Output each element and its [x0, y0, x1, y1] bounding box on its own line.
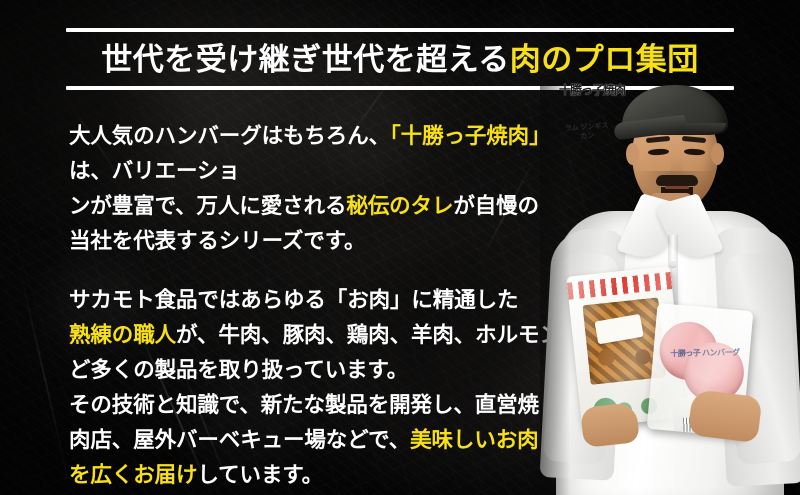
text-run: その技術と知識で、新たな製品を開発し、直営焼 [69, 393, 539, 417]
text-run: サカモト食品ではあらゆる「お肉」に精通した [69, 288, 518, 312]
text-run: しています。 [197, 463, 323, 487]
shirt-button [670, 261, 676, 267]
text-run: が自慢の [453, 194, 539, 218]
package-label-text-lamb: ラム ジンギスカン [563, 121, 610, 142]
text-run-highlight: 秘伝のタレ [346, 194, 453, 218]
paragraph-2-line-4: その技術と知識で、新たな製品を開発し、直営焼 [69, 388, 589, 423]
person-ear-right [711, 143, 724, 165]
text-run: 当社を代表するシリーズです。 [69, 229, 365, 253]
person-hand-right [687, 389, 762, 443]
text-run: ど多くの製品を取り扱っています。 [69, 358, 408, 382]
package-title-hamburg: 十勝っ子 ハンバーグ [670, 347, 741, 382]
paragraph-2-line-5: 肉店、屋外バーベキュー場などで、美味しいお肉 [69, 423, 589, 458]
person-moustache [656, 175, 698, 186]
person-nose [671, 157, 683, 175]
text-run: 肉店、屋外バーベキュー場などで、 [69, 428, 410, 452]
staff-photo: 十勝っ子焼肉 ラム ジンギスカン 十勝っ子 ハンバーグ [540, 75, 800, 495]
package-stripe-band [567, 272, 672, 300]
text-run: が、牛肉、豚肉、鶏肉、羊肉、ホルモンな [176, 323, 582, 347]
text-run-highlight: 「十勝っ子焼肉」 [390, 124, 550, 148]
promo-banner: 世代を受け継ぎ世代を超える肉のプロ集団 大人気のハンバーグはもちろん、「十勝っ子… [0, 0, 800, 495]
paragraph-1-line-3: 当社を代表するシリーズです。 [69, 224, 589, 259]
paragraph-2-line-3: ど多くの製品を取り扱っています。 [69, 353, 589, 388]
paragraph-2-line-1: サカモト食品ではあらゆる「お肉」に精通した [69, 283, 589, 318]
paragraph-1-line-1: 大人気のハンバーグはもちろん、「十勝っ子焼肉」は、バリエーショ [69, 119, 589, 189]
text-run: ンが豊富で、万人に愛される [69, 194, 346, 218]
text-run-highlight: 美味しいお肉 [410, 428, 538, 452]
text-run: は、バリエーショ [69, 159, 240, 183]
text-run-highlight: を広くお届け [69, 463, 197, 487]
text-run: 大人気のハンバーグはもちろん、 [69, 124, 390, 148]
paragraph-spacer [69, 259, 589, 283]
headline-text-plain: 世代を受け継ぎ世代を超える [101, 42, 510, 77]
person-ear-left [626, 143, 639, 165]
headline-text-highlight: 肉のプロ集団 [510, 42, 699, 77]
photo-edge-blend [540, 75, 570, 495]
body-copy: 大人気のハンバーグはもちろん、「十勝っ子焼肉」は、バリエーショ ンが豊富で、万人… [69, 119, 589, 493]
person-mouth [665, 186, 689, 189]
text-run-highlight: 熟練の職人 [69, 323, 176, 347]
paragraph-2-line-2: 熟練の職人が、牛肉、豚肉、鶏肉、羊肉、ホルモンな [69, 318, 589, 353]
paragraph-2-line-6: を広くお届けしています。 [69, 458, 589, 493]
paragraph-1-line-2: ンが豊富で、万人に愛される秘伝のタレが自慢の [69, 189, 589, 224]
person-hand-left [580, 402, 640, 448]
